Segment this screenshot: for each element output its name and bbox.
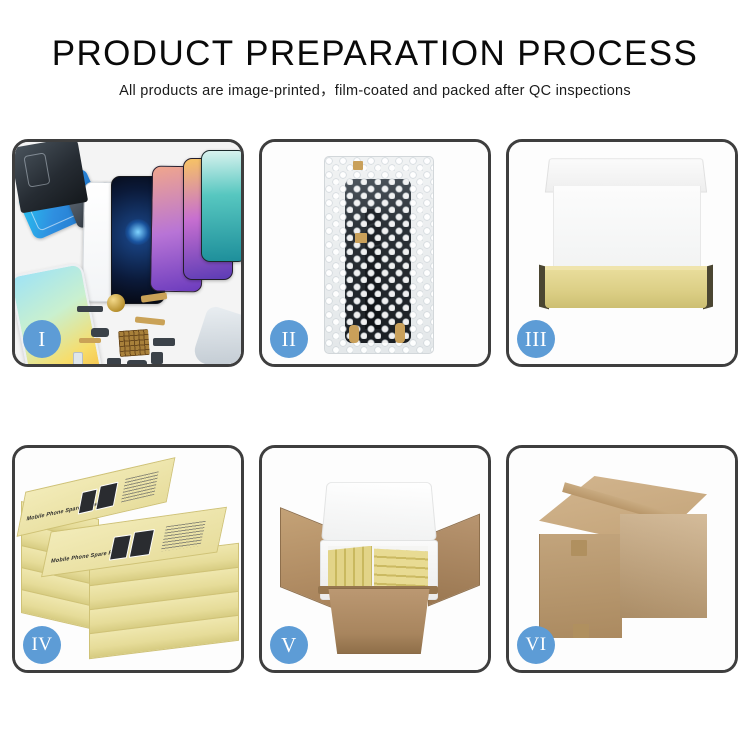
small-part-icon [127, 360, 147, 364]
box-spec-lines [121, 471, 159, 502]
bubble-texture-icon [325, 157, 433, 353]
flex-cable-icon [79, 338, 101, 343]
process-step-1: I [12, 139, 244, 367]
small-part-icon [73, 352, 83, 364]
step-badge-1: I [23, 320, 61, 358]
yellow-box-row-icon [328, 546, 372, 588]
step-badge-6: VI [517, 626, 555, 664]
box-spec-lines [161, 521, 206, 552]
tape-icon [571, 540, 587, 556]
bubble-wrap-bag-icon [324, 156, 434, 354]
step-badge-4: IV [23, 626, 61, 664]
speaker-module-icon [107, 294, 125, 312]
yellow-box-row-icon [374, 549, 428, 588]
box-stack-photo: Mobile Phone Spare Parts Mobile Phone Sp… [15, 448, 241, 670]
process-step-6: VI [506, 445, 738, 673]
tape-icon [349, 325, 359, 343]
small-part-icon [153, 338, 175, 346]
step-badge-3: III [517, 320, 555, 358]
small-part-icon [107, 358, 121, 364]
process-step-3: III [506, 139, 738, 367]
open-box-photo: III [509, 142, 735, 364]
box-window-icon [78, 488, 98, 514]
phone-housing-icon [15, 142, 88, 213]
tape-icon [355, 233, 367, 243]
process-step-2: II [259, 139, 491, 367]
tape-icon [395, 323, 405, 343]
small-part-icon [151, 352, 163, 364]
chip-array-icon [118, 329, 150, 357]
process-step-4: Mobile Phone Spare Parts Mobile Phone Sp… [12, 445, 244, 673]
flex-cable-icon [135, 316, 165, 325]
carton-front-icon [324, 588, 434, 654]
carton-open-photo: V [262, 448, 488, 670]
yellow-box-front-icon [545, 270, 707, 308]
process-step-grid: I II [12, 139, 738, 679]
phone-display-teal-icon [201, 150, 241, 262]
styrofoam-lid-icon [321, 482, 437, 541]
carton-sealed-photo: VI [509, 448, 735, 670]
product-preparation-infographic: PRODUCT PREPARATION PROCESS All products… [0, 0, 750, 750]
foam-padding-icon [553, 186, 701, 270]
carton-right-face-icon [620, 514, 707, 618]
step-badge-5: V [270, 626, 308, 664]
box-window-icon [129, 529, 155, 558]
tape-icon [573, 624, 589, 638]
tape-icon [353, 161, 363, 170]
small-part-icon [77, 306, 103, 312]
page-title: PRODUCT PREPARATION PROCESS [0, 34, 750, 74]
packed-boxes-group [328, 546, 428, 588]
step-badge-2: II [270, 320, 308, 358]
repair-tool-icon [191, 304, 241, 364]
bubble-wrap-photo: II [262, 142, 488, 364]
phone-parts-photo: I [15, 142, 241, 364]
small-part-icon [91, 328, 109, 337]
header: PRODUCT PREPARATION PROCESS All products… [0, 34, 750, 100]
process-step-5: V [259, 445, 491, 673]
page-subtitle: All products are image-printed，film-coat… [0, 82, 750, 100]
box-window-icon [95, 482, 118, 511]
